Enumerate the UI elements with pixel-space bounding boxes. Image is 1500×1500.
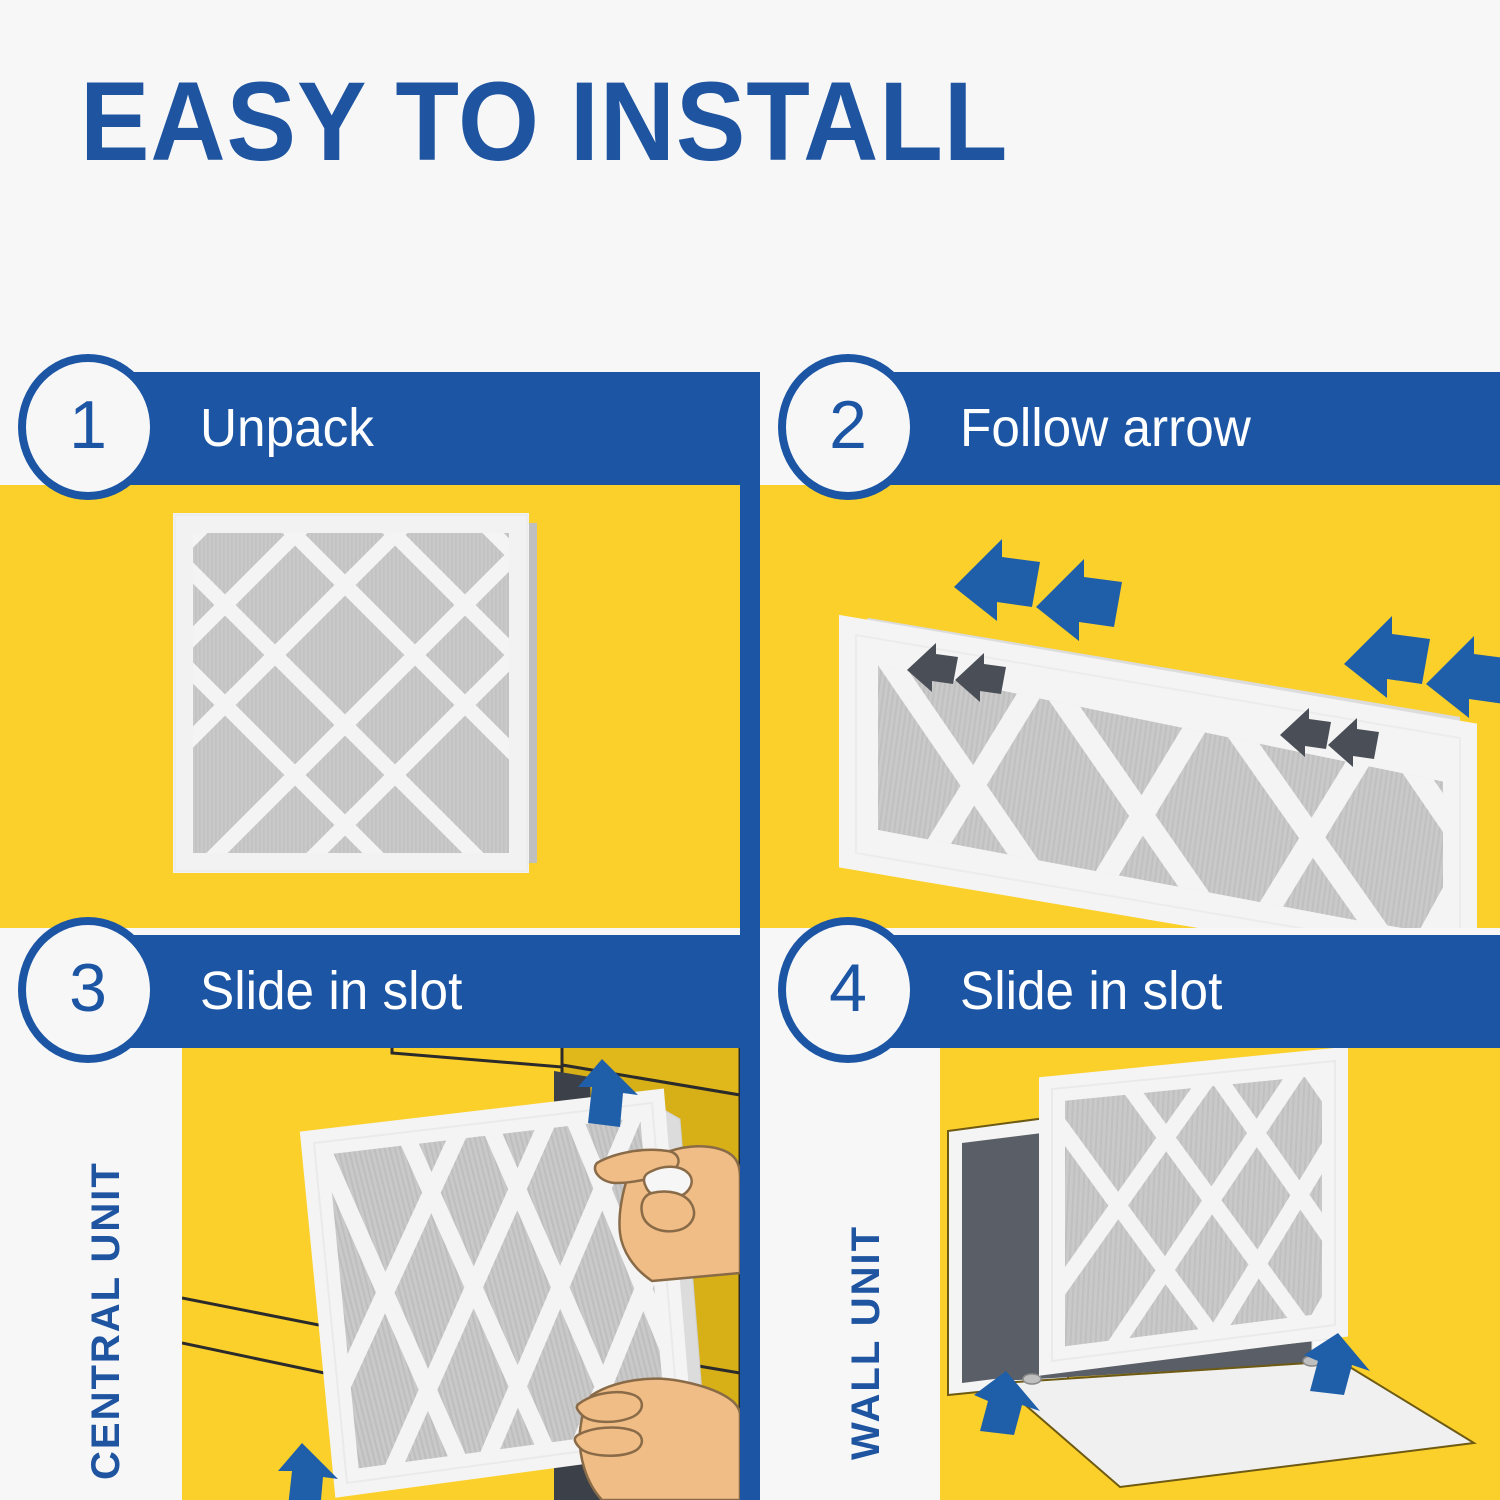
wall-unit-icon — [940, 1043, 1500, 1500]
step-1-number-badge: 1 — [18, 354, 158, 500]
air-filter-front-icon — [0, 485, 740, 928]
step-2-illustration-area — [760, 485, 1500, 928]
step-1-label: Unpack — [200, 372, 374, 485]
step-4-illustration-area — [940, 1043, 1500, 1500]
step-4-label: Slide in slot — [960, 935, 1222, 1048]
step-4-side-label: WALL UNIT — [844, 1225, 889, 1460]
step-2-label: Follow arrow — [960, 372, 1251, 485]
infographic-root: EASY TO INSTALL — [0, 0, 1500, 1500]
step-1-number: 1 — [69, 391, 107, 459]
step-3-illustration-area — [182, 1043, 740, 1500]
vertical-divider — [740, 372, 760, 1500]
central-unit-icon — [182, 1043, 740, 1500]
step-2-number-badge: 2 — [778, 354, 918, 500]
step-1-header-bar — [80, 372, 740, 485]
step-3-number: 3 — [69, 954, 107, 1022]
step-4-number: 4 — [829, 954, 867, 1022]
airflow-arrow-blue-icon-right — [1340, 590, 1500, 730]
page-title: EASY TO INSTALL — [80, 66, 1008, 178]
airflow-arrow-blue-icon — [950, 513, 1180, 653]
step-1-illustration-area — [0, 485, 740, 928]
hand-icon-lower — [575, 1379, 740, 1500]
step-3-label: Slide in slot — [200, 935, 462, 1048]
step-3-side-label: CENTRAL UNIT — [84, 1161, 129, 1480]
step-4-number-badge: 4 — [778, 917, 918, 1063]
step-2-number: 2 — [829, 391, 867, 459]
step-3-number-badge: 3 — [18, 917, 158, 1063]
